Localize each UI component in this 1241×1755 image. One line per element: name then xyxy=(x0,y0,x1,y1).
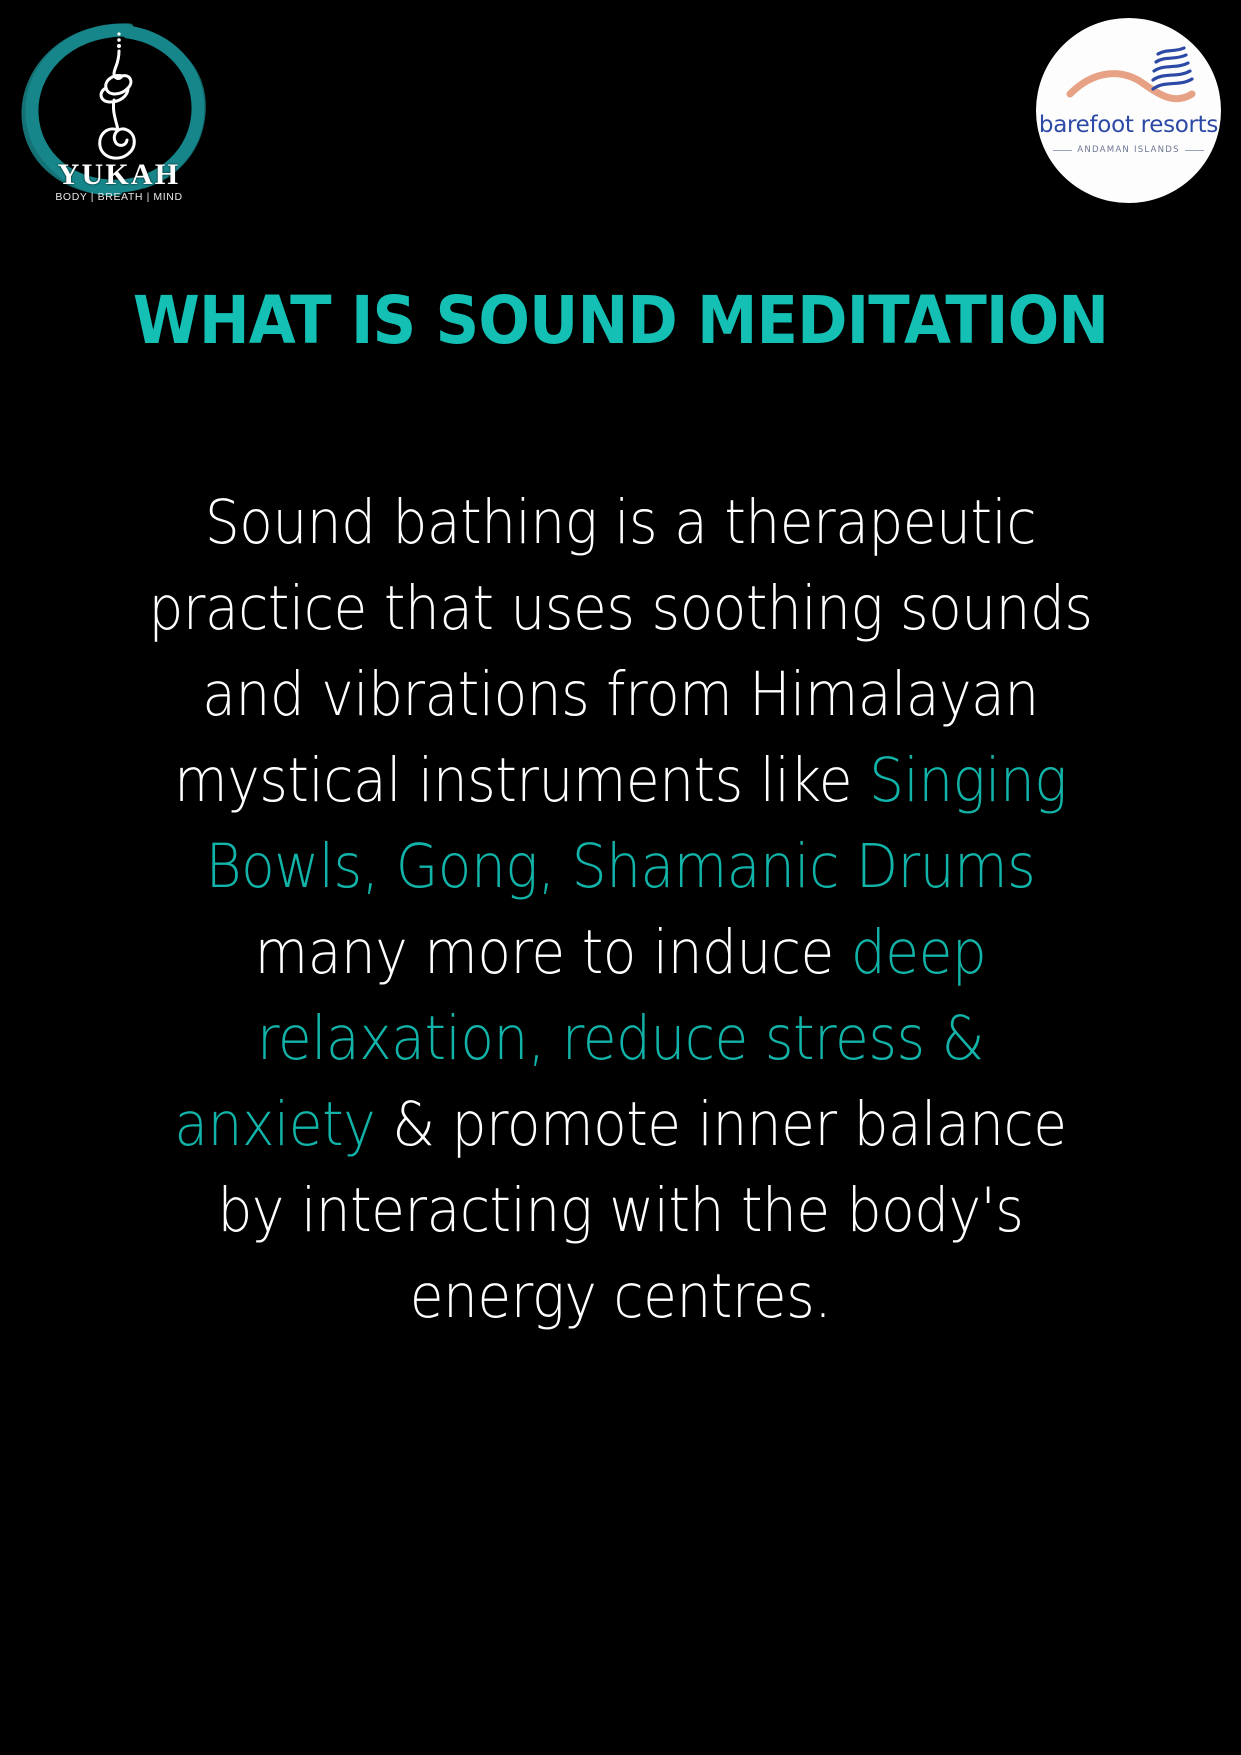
barefoot-subtitle: ANDAMAN ISLANDS xyxy=(1077,146,1179,155)
barefoot-wordmark: barefoot resorts xyxy=(1036,114,1221,137)
unalome-icon xyxy=(84,30,154,168)
page-title: WHAT IS SOUND MEDITATION xyxy=(50,288,1192,354)
yukah-wordmark: YUKAH xyxy=(8,160,230,190)
logo-bar: YUKAH BODY | BREATH | MIND barefoot reso… xyxy=(0,0,1241,230)
barefoot-swoosh-icon xyxy=(1036,18,1221,203)
barefoot-resorts-logo: barefoot resorts ANDAMAN ISLANDS xyxy=(1036,18,1221,203)
yukah-tagline: BODY | BREATH | MIND xyxy=(8,192,230,203)
rule-left xyxy=(1053,150,1072,151)
barefoot-subtitle-row: ANDAMAN ISLANDS xyxy=(1036,146,1221,155)
rule-right xyxy=(1185,150,1204,151)
yukah-logo: YUKAH BODY | BREATH | MIND xyxy=(8,8,230,208)
body-plain-text: many more to induce xyxy=(255,917,851,988)
body-paragraph: Sound bathing is a therapeutic practice … xyxy=(148,480,1092,1340)
sound-meditation-poster: { "page": { "background_color": "#000000… xyxy=(0,0,1241,1755)
